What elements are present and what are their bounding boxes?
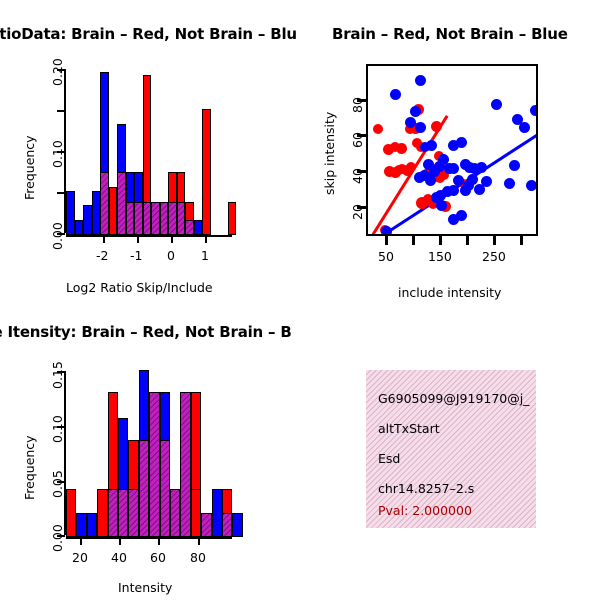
info-id: G6905099@J919170@j_ — [378, 391, 529, 406]
intensity-histogram-bars — [66, 371, 232, 537]
intensity-ytick-label-2: 0.10 — [50, 415, 65, 443]
ytick-1 — [57, 192, 65, 194]
bar-blue — [232, 513, 242, 537]
scatter-point-not-brain — [381, 226, 392, 236]
scatter-point-not-brain — [504, 178, 515, 189]
bar-overlap — [117, 172, 126, 235]
info-pval: Pval: 2.000000 — [378, 503, 472, 518]
bar-blue — [76, 513, 86, 537]
bar-overlap — [177, 202, 186, 235]
scatter-title: Brain – Red, Not Brain – Blue — [332, 25, 568, 43]
ratio-ytick-label-4: 0.20 — [50, 58, 65, 86]
ratio-histogram-ylabel: Frequency — [22, 135, 37, 200]
scatter-plot-area — [366, 64, 538, 236]
intensity-ytick-label-3: 0.15 — [50, 361, 65, 389]
scatter-xtick-label-50: 50 — [378, 249, 394, 264]
bar-red — [191, 489, 201, 537]
xtick--2 — [103, 235, 105, 243]
bar-blue — [92, 191, 101, 235]
xtick-20 — [80, 537, 82, 545]
scatter-point-not-brain — [414, 172, 425, 183]
scatter-point-not-brain — [491, 99, 502, 110]
scatter-ytick-label-20: 20 — [350, 204, 365, 220]
bar-overlap — [222, 513, 232, 537]
scatter-xtick-200 — [466, 236, 469, 245]
intensity-histogram-xlabel: Intensity — [118, 580, 172, 595]
scatter-point-not-brain — [415, 122, 426, 133]
ratio-histogram-bars — [66, 69, 232, 235]
ratio-ytick-label-0: 0.00 — [50, 222, 65, 250]
scatter-point-not-brain — [530, 105, 538, 116]
ratio-histogram-title: RatioData: Brain – Red, Not Brain – Blu — [0, 25, 297, 43]
plot-canvas: RatioData: Brain – Red, Not Brain – Blu … — [0, 0, 600, 600]
scatter-xlabel: include intensity — [398, 285, 501, 300]
bar-blue — [87, 513, 97, 537]
bar-red — [97, 489, 107, 537]
intensity-xtick-label-60: 60 — [150, 550, 166, 565]
intensity-histogram-xaxis — [66, 537, 232, 539]
scatter-point-not-brain — [463, 180, 474, 191]
bar-overlap — [180, 392, 190, 537]
ytick-3 — [57, 110, 65, 112]
scatter-point-not-brain — [410, 106, 421, 117]
bar-red — [109, 187, 118, 235]
scatter-xtick-label-250: 250 — [482, 249, 506, 264]
scatter-ytick-label-80: 80 — [350, 97, 365, 113]
scatter-point-brain — [431, 121, 442, 132]
intensity-ytick-label-1: 0.05 — [50, 470, 65, 498]
scatter-point-not-brain — [456, 137, 467, 148]
intensity-histogram-ylabel: Frequency — [22, 435, 37, 500]
scatter-point-not-brain — [481, 176, 492, 187]
bar-overlap — [100, 172, 109, 235]
scatter-point-not-brain — [526, 180, 537, 191]
intensity-ytick-label-0: 0.00 — [50, 524, 65, 552]
scatter-point-not-brain — [436, 200, 447, 211]
ratio-xtick-label-0: -2 — [96, 248, 108, 263]
scatter-ytick-label-40: 40 — [350, 168, 365, 184]
ratio-xtick-label-1: -1 — [130, 248, 142, 263]
info-event-type: altTxStart — [378, 421, 440, 436]
bar-overlap — [160, 440, 170, 537]
scatter-point-not-brain — [426, 140, 437, 151]
bar-overlap — [149, 392, 159, 537]
bar-overlap — [139, 440, 149, 537]
xtick-1 — [205, 235, 207, 243]
scatter-point-not-brain — [509, 160, 520, 171]
bar-red — [202, 109, 211, 235]
bar-overlap — [128, 489, 138, 537]
bar-red — [228, 202, 237, 235]
ratio-histogram-xlabel: Log2 Ratio Skip/Include — [66, 280, 213, 295]
bar-blue — [194, 220, 203, 235]
bar-overlap — [126, 202, 135, 235]
xtick-80 — [198, 537, 200, 545]
bar-overlap — [168, 202, 177, 235]
scatter-xtick-300 — [520, 236, 523, 245]
ratio-xtick-label-2: 0 — [167, 248, 175, 263]
scatter-point-brain — [396, 143, 407, 154]
xtick--1 — [137, 235, 139, 243]
bar-overlap — [118, 489, 128, 537]
bar-blue — [212, 489, 222, 537]
scatter-point-not-brain — [390, 89, 401, 100]
ratio-histogram-xaxis — [66, 235, 232, 237]
bar-overlap — [108, 489, 118, 537]
xtick-0 — [171, 235, 173, 243]
scatter-xtick-250 — [493, 236, 496, 245]
scatter-point-not-brain — [476, 162, 487, 173]
scatter-point-not-brain — [456, 210, 467, 221]
bar-overlap — [201, 513, 211, 537]
scatter-point-not-brain — [448, 163, 459, 174]
scatter-xtick-100 — [412, 236, 415, 245]
bar-overlap — [170, 489, 180, 537]
scatter-xtick-label-150: 150 — [428, 249, 452, 264]
scatter-point-brain — [394, 165, 404, 175]
info-gene: Esd — [378, 451, 400, 466]
intensity-histogram-title: ne Itensity: Brain – Red, Not Brain – B — [0, 323, 292, 341]
bar-blue — [66, 191, 75, 235]
bar-overlap — [185, 220, 194, 235]
intensity-xtick-label-20: 20 — [72, 550, 88, 565]
intensity-xtick-label-40: 40 — [111, 550, 127, 565]
intensity-xtick-label-80: 80 — [190, 550, 206, 565]
bar-blue — [83, 205, 92, 235]
scatter-point-not-brain — [423, 159, 434, 170]
scatter-point-not-brain — [415, 75, 426, 86]
scatter-point-brain — [406, 162, 416, 172]
bar-overlap — [134, 202, 143, 235]
scatter-ytick-label-60: 60 — [350, 132, 365, 148]
bar-overlap — [151, 202, 160, 235]
scatter-xtick-50 — [385, 236, 388, 245]
scatter-point-brain — [373, 124, 383, 134]
xtick-60 — [158, 537, 160, 545]
scatter-xtick-150 — [439, 236, 442, 245]
ratio-ytick-label-2: 0.10 — [50, 140, 65, 168]
scatter-point-not-brain — [519, 122, 530, 133]
xtick-40 — [119, 537, 121, 545]
bar-red — [66, 489, 76, 537]
ratio-xtick-label-3: 1 — [201, 248, 209, 263]
bar-blue — [75, 220, 84, 235]
bar-overlap — [160, 202, 169, 235]
scatter-point-not-brain — [425, 175, 436, 186]
annotation-info-box: G6905099@J919170@j_ altTxStart Esd chr14… — [366, 370, 536, 528]
info-probe: chr14.8257–2.s — [378, 481, 474, 496]
scatter-ylabel: skip intensity — [322, 112, 337, 195]
bar-overlap — [143, 202, 152, 235]
